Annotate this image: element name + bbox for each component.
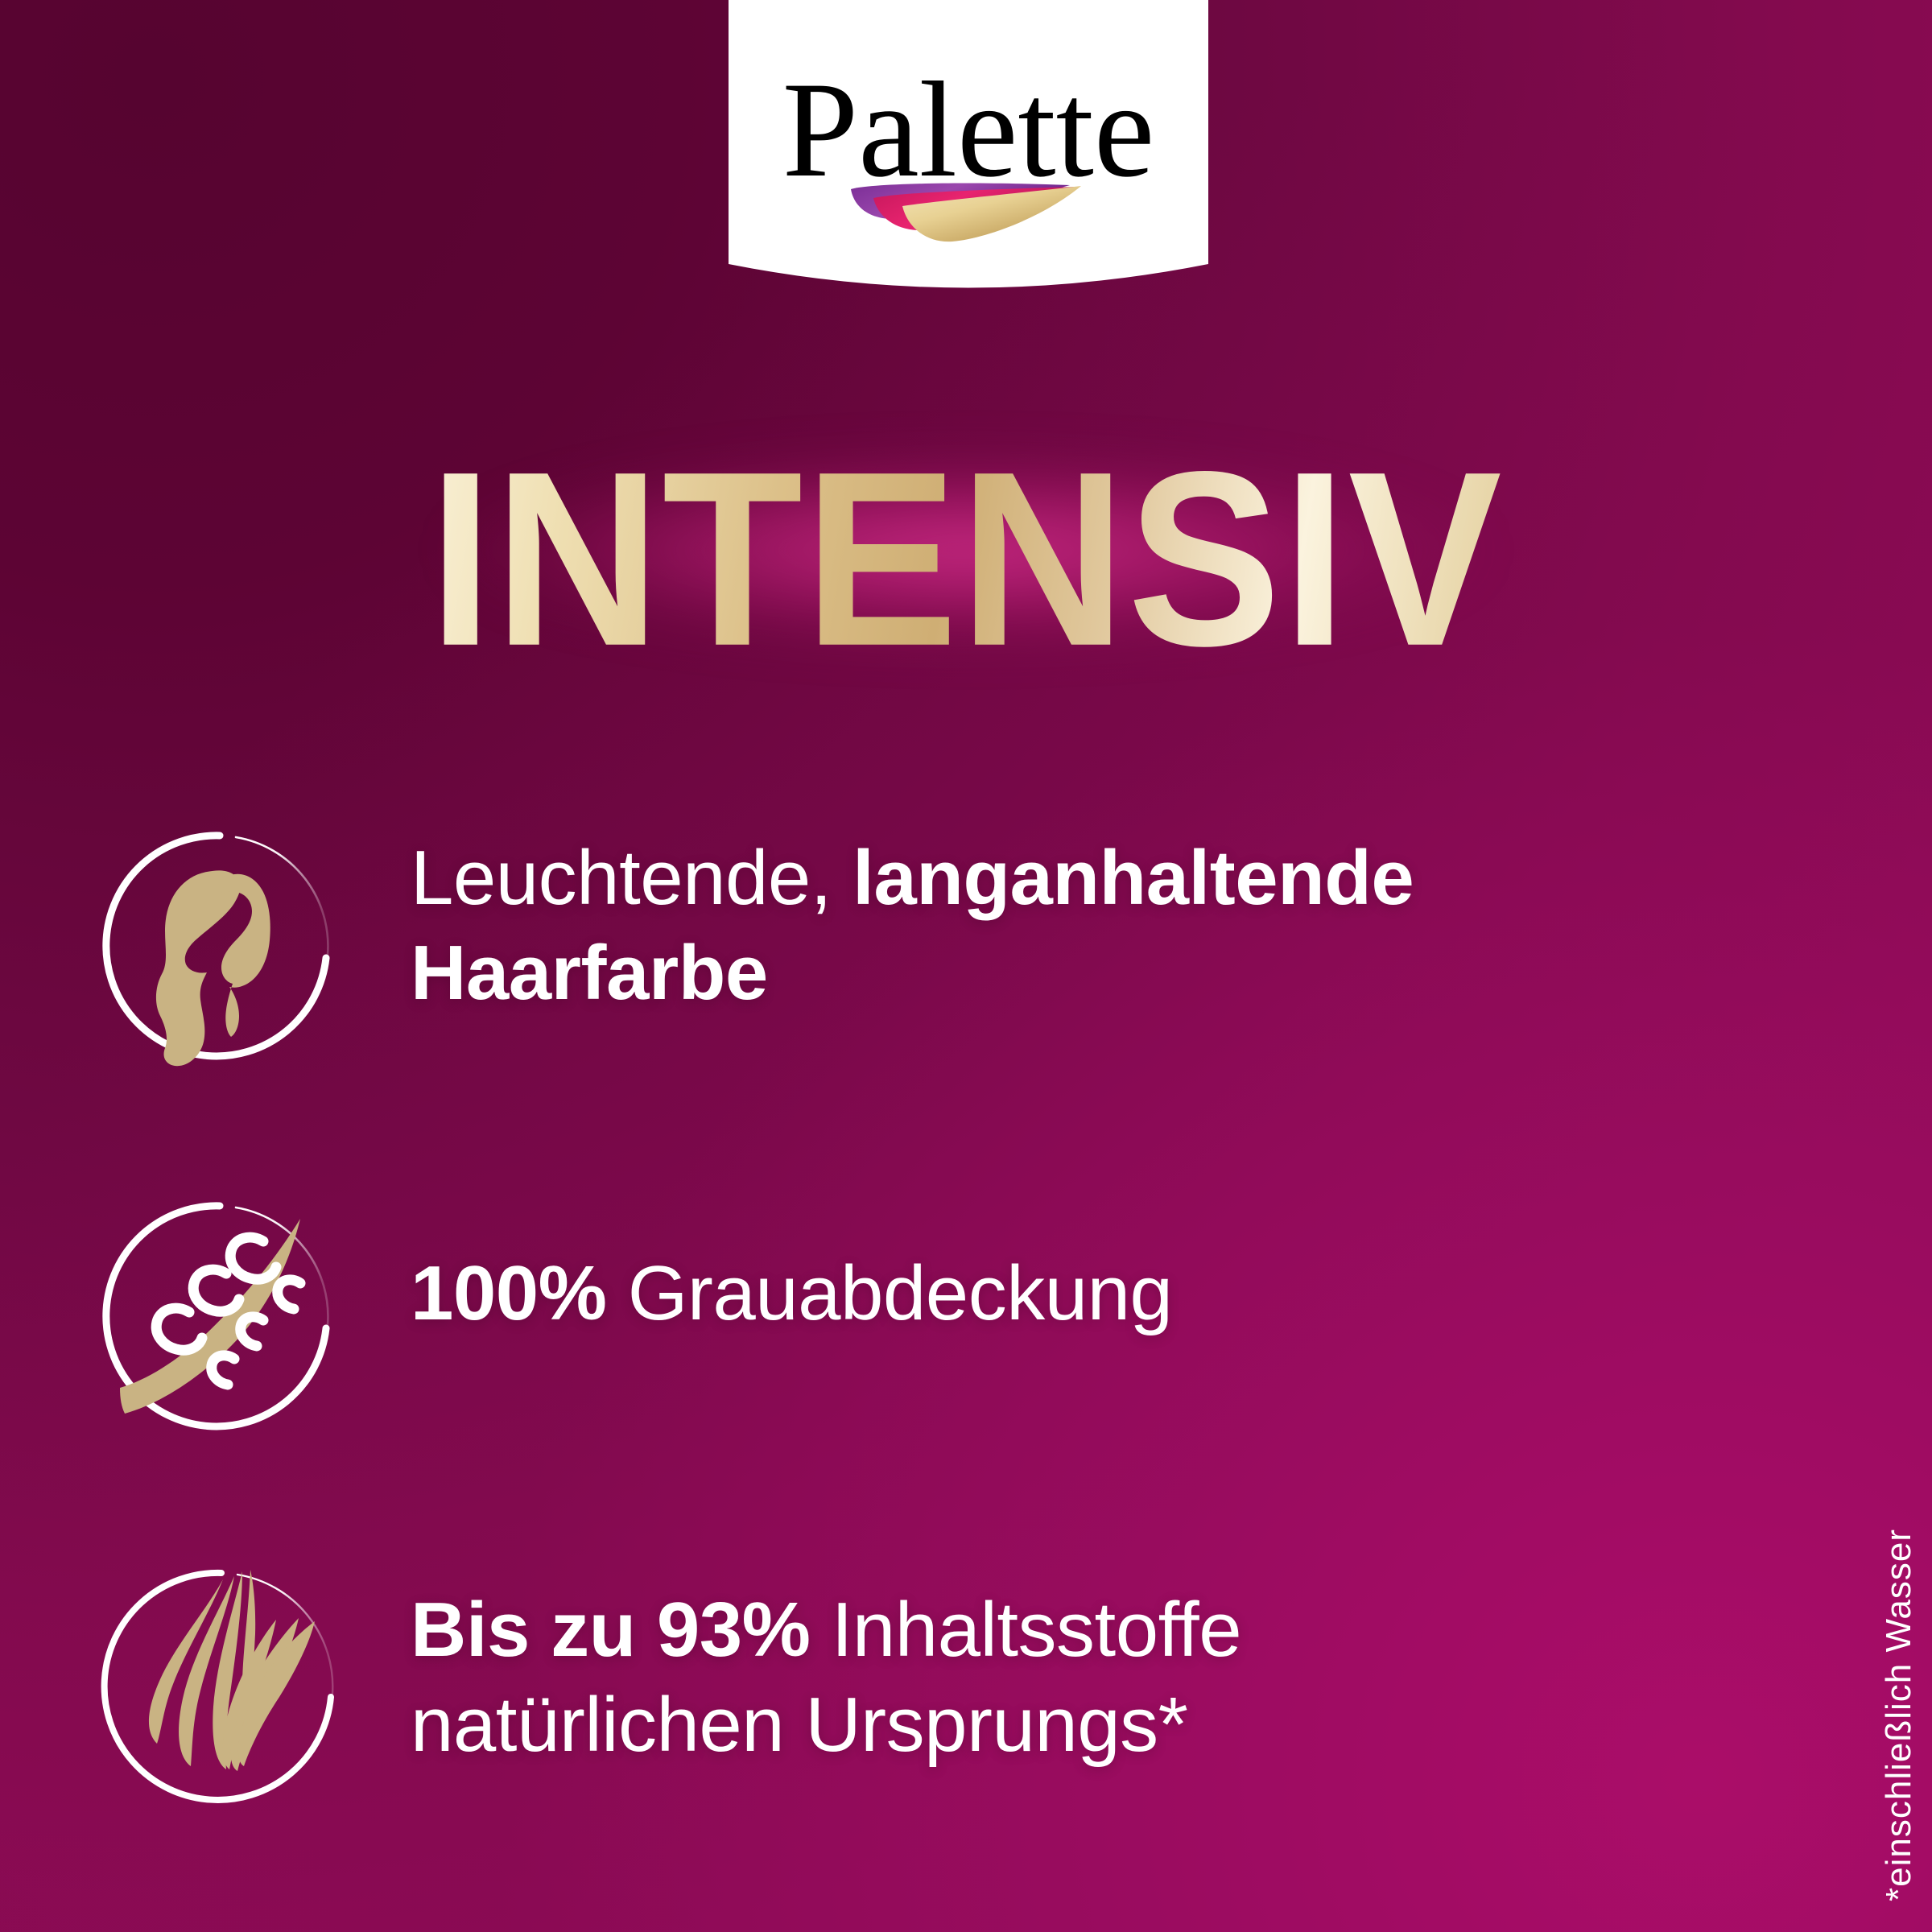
benefit-text: 100% Grauabdeckung bbox=[411, 1183, 1932, 1341]
hair-strand-curls-icon bbox=[85, 1183, 350, 1449]
page-title: INTENSIV bbox=[0, 441, 1932, 676]
logo-wordmark: Palette bbox=[782, 54, 1155, 205]
benefit-line-1: Leuchtende, langanhaltende bbox=[411, 835, 1414, 921]
palette-logo: Palette bbox=[729, 0, 1208, 298]
benefit-part-bold: langanhaltende bbox=[852, 835, 1414, 921]
hair-silhouette bbox=[156, 870, 270, 1066]
benefit-text: Leuchtende, langanhaltende Haarfarbe bbox=[411, 813, 1932, 1021]
headline-block: INTENSIV bbox=[0, 441, 1932, 658]
benefit-stat: Bis zu 93% bbox=[411, 1587, 811, 1673]
woman-long-hair-icon bbox=[85, 813, 350, 1079]
benefit-part: Grauabdeckung bbox=[607, 1250, 1173, 1336]
benefit-stat: 100% bbox=[411, 1250, 607, 1336]
natural-leaves-icon bbox=[85, 1554, 350, 1819]
benefit-row: Bis zu 93% Inhaltsstoffe natürlichen Urs… bbox=[0, 1554, 1932, 1819]
hair-strand bbox=[120, 1219, 300, 1414]
footnote-text: *einschließlich Wasser bbox=[1879, 1529, 1919, 1901]
benefit-line-2: Haarfarbe bbox=[411, 930, 768, 1016]
benefit-part: Leuchtende, bbox=[411, 835, 852, 921]
leaf-blades bbox=[149, 1570, 315, 1771]
benefit-line-2: natürlichen Ursprungs* bbox=[411, 1682, 1188, 1768]
benefit-text: Bis zu 93% Inhaltsstoffe natürlichen Urs… bbox=[411, 1554, 1932, 1773]
benefit-part: Inhaltsstoffe bbox=[811, 1587, 1242, 1673]
benefit-row: 100% Grauabdeckung bbox=[0, 1183, 1932, 1449]
benefit-row: Leuchtende, langanhaltende Haarfarbe bbox=[0, 813, 1932, 1079]
